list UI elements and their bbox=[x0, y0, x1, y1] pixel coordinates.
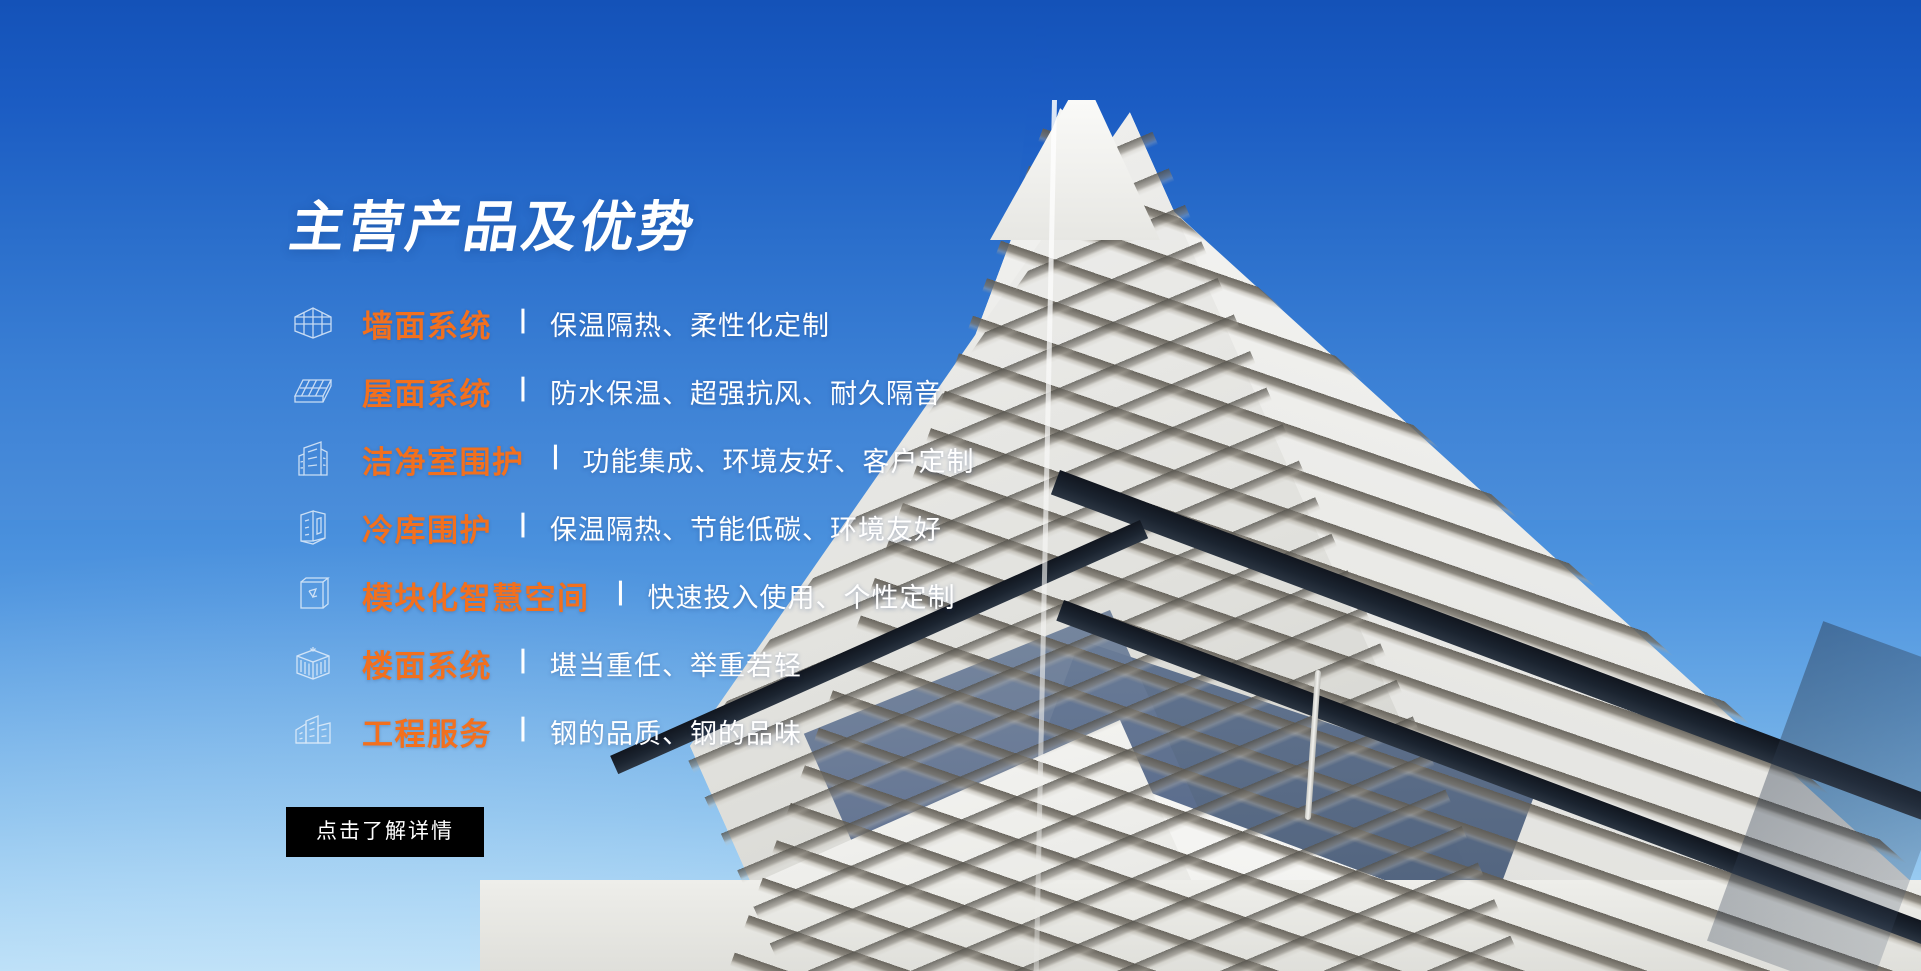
feature-separator: 丨 bbox=[510, 309, 536, 335]
feature-title: 屋面系统 bbox=[362, 369, 492, 414]
list-item[interactable]: 冷库围护 丨 保温隔热、节能低碳、环境友好 bbox=[286, 493, 900, 561]
feature-description: 钢的品质、钢的品味 bbox=[550, 712, 802, 751]
feature-title: 冷库围护 bbox=[362, 505, 492, 550]
floor-system-icon bbox=[286, 640, 340, 686]
cta-container: 点击了解详情 bbox=[286, 807, 900, 857]
modular-space-icon bbox=[286, 572, 340, 618]
feature-separator: 丨 bbox=[543, 445, 569, 471]
feature-title: 楼面系统 bbox=[362, 641, 492, 686]
list-item[interactable]: 工程服务 丨 钢的品质、钢的品味 bbox=[286, 697, 900, 765]
feature-description: 防水保温、超强抗风、耐久隔音 bbox=[550, 372, 942, 411]
feature-title: 工程服务 bbox=[362, 709, 492, 754]
feature-description: 堪当重任、举重若轻 bbox=[550, 644, 802, 683]
feature-description: 快速投入使用、个性定制 bbox=[648, 576, 956, 615]
feature-separator: 丨 bbox=[510, 377, 536, 403]
feature-title: 洁净室围护 bbox=[362, 437, 525, 482]
hero-content: 主营产品及优势 墙面系统 丨 保温隔热、柔性化定制 bbox=[0, 0, 900, 857]
engineering-icon bbox=[286, 708, 340, 754]
list-item[interactable]: 屋面系统 丨 防水保温、超强抗风、耐久隔音 bbox=[286, 357, 900, 425]
feature-description: 功能集成、环境友好、客户定制 bbox=[583, 440, 975, 479]
feature-separator: 丨 bbox=[510, 513, 536, 539]
page-title: 主营产品及优势 bbox=[286, 0, 940, 255]
feature-separator: 丨 bbox=[510, 649, 536, 675]
feature-separator: 丨 bbox=[608, 581, 634, 607]
list-item[interactable]: 楼面系统 丨 堪当重任、举重若轻 bbox=[286, 629, 900, 697]
feature-title: 模块化智慧空间 bbox=[362, 573, 590, 618]
roof-panel-icon bbox=[286, 368, 340, 414]
list-item[interactable]: 墙面系统 丨 保温隔热、柔性化定制 bbox=[286, 289, 900, 357]
learn-more-button[interactable]: 点击了解详情 bbox=[286, 807, 484, 857]
feature-title: 墙面系统 bbox=[362, 301, 492, 346]
wall-panel-icon bbox=[286, 300, 340, 346]
coldstorage-icon bbox=[286, 504, 340, 550]
feature-description: 保温隔热、节能低碳、环境友好 bbox=[550, 508, 942, 547]
list-item[interactable]: 模块化智慧空间 丨 快速投入使用、个性定制 bbox=[286, 561, 900, 629]
product-feature-list: 墙面系统 丨 保温隔热、柔性化定制 屋面系统 丨 防水保温、超强抗风、耐久隔音 bbox=[286, 289, 900, 765]
list-item[interactable]: 洁净室围护 丨 功能集成、环境友好、客户定制 bbox=[286, 425, 900, 493]
feature-separator: 丨 bbox=[510, 717, 536, 743]
feature-description: 保温隔热、柔性化定制 bbox=[550, 304, 830, 343]
hero-banner: 主营产品及优势 墙面系统 丨 保温隔热、柔性化定制 bbox=[0, 0, 1921, 971]
cleanroom-icon bbox=[286, 436, 340, 482]
